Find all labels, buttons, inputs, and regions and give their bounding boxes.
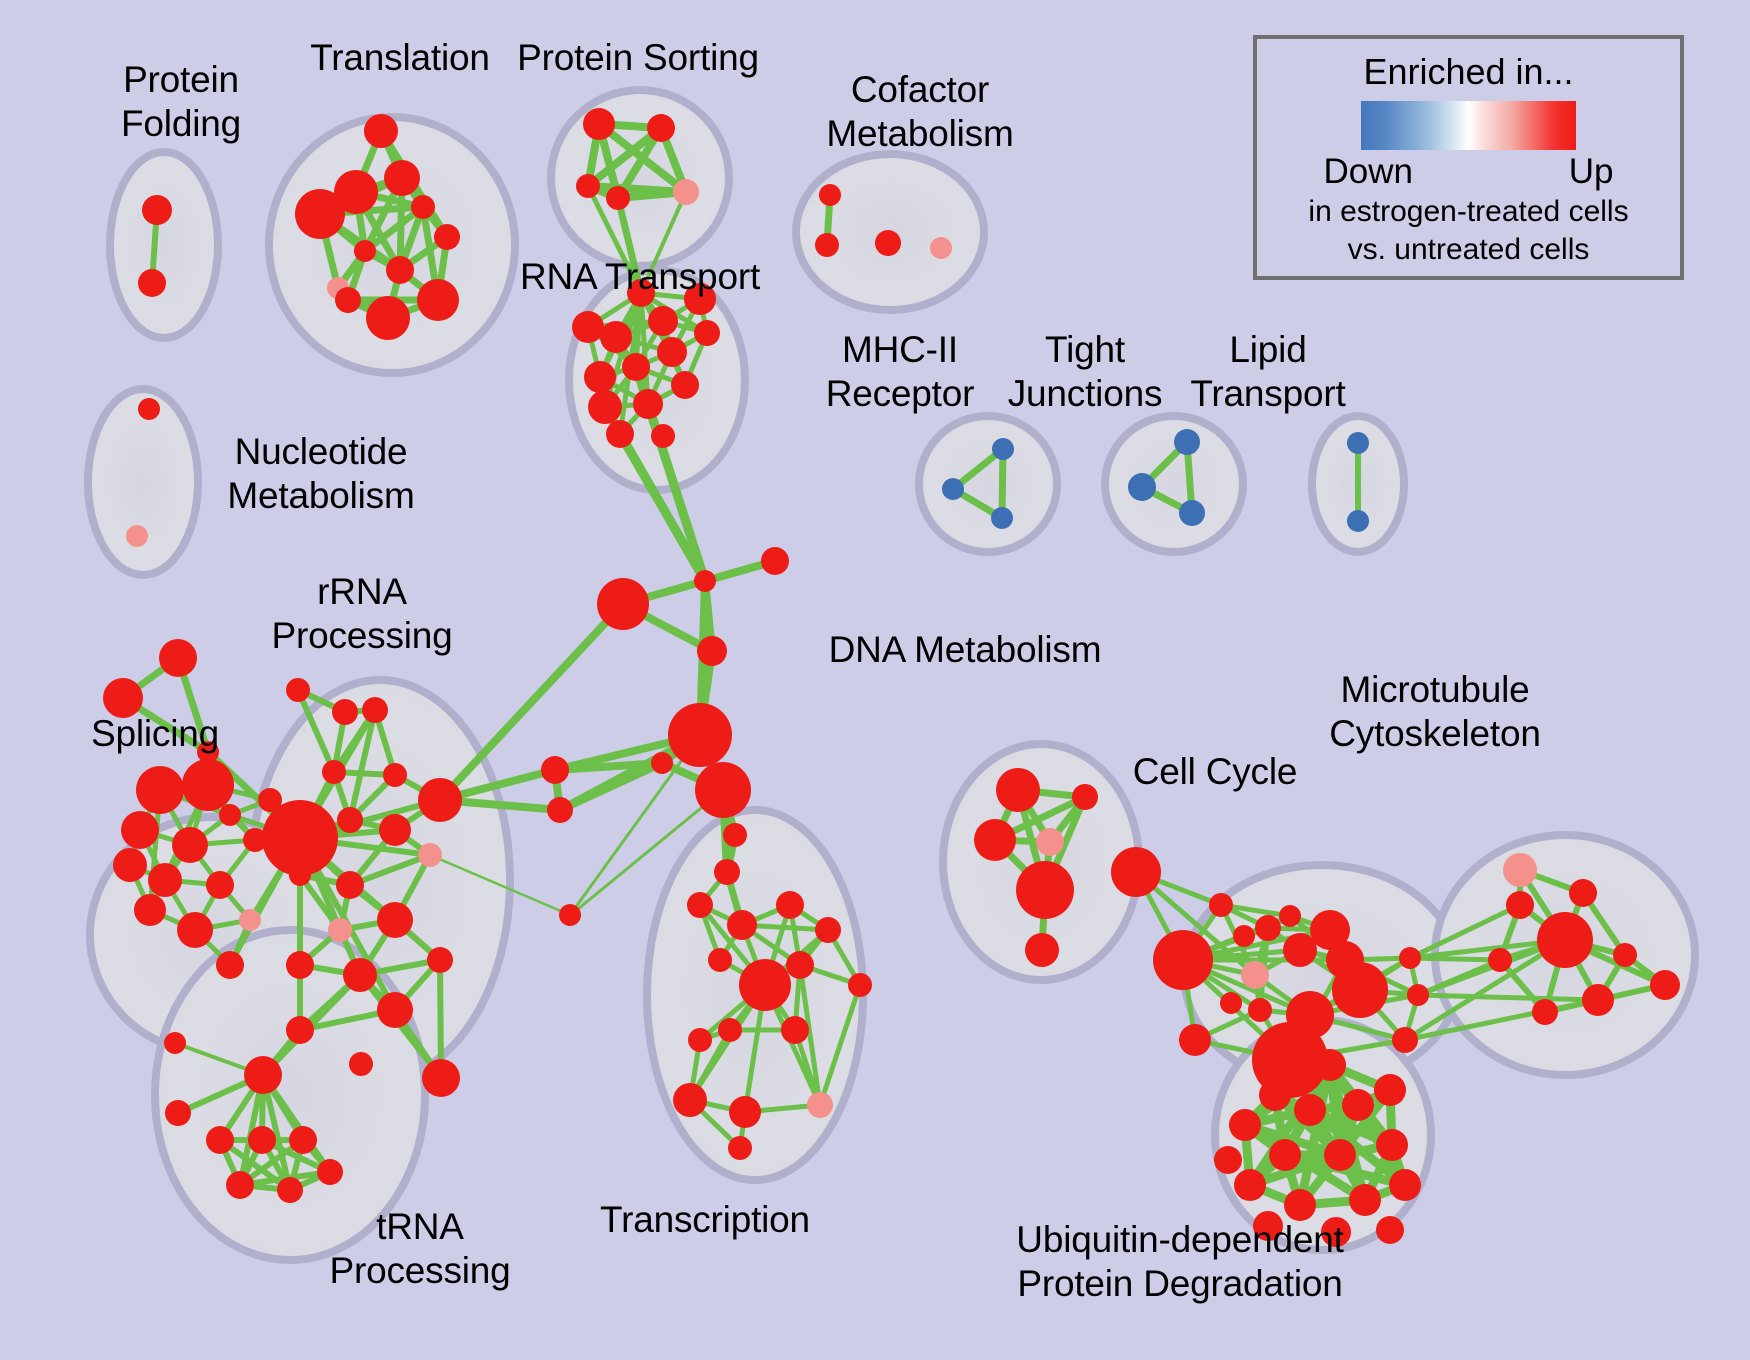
cluster-label-protein-folding: Protein Folding xyxy=(86,58,276,146)
cluster-label-rrna-processing: rRNA Processing xyxy=(252,570,472,658)
legend-title: Enriched in... xyxy=(1363,51,1573,93)
cluster-label-mhc-ii-receptor: MHC-II Receptor xyxy=(800,328,1000,416)
cluster-label-lipid-transport: Lipid Transport xyxy=(1168,328,1368,416)
legend-low-label: Down xyxy=(1324,152,1413,192)
network-diagram-canvas: Protein Folding Translation Protein Sort… xyxy=(0,0,1750,1360)
bubble-protein-sorting xyxy=(551,90,729,266)
cluster-label-microtubule: Microtubule Cytoskeleton xyxy=(1305,668,1565,756)
cluster-label-dna-metabolism: DNA Metabolism xyxy=(820,628,1110,672)
cluster-label-transcription: Transcription xyxy=(570,1198,840,1242)
bubble-protein-folding xyxy=(110,152,218,338)
cluster-label-cell-cycle: Cell Cycle xyxy=(1100,750,1330,794)
bubble-tight-junctions xyxy=(1105,416,1243,552)
cluster-label-cofactor-metabolism: Cofactor Metabolism xyxy=(800,68,1040,156)
cluster-label-tight-junctions: Tight Junctions xyxy=(985,328,1185,416)
cluster-label-trna-processing: tRNA Processing xyxy=(310,1205,530,1293)
cluster-label-ubiquitin: Ubiquitin-dependent Protein Degradation xyxy=(985,1218,1375,1306)
cluster-label-protein-sorting: Protein Sorting xyxy=(498,36,778,80)
legend-subtitle-line2: vs. untreated cells xyxy=(1348,232,1590,268)
legend-subtitle-line1: in estrogen-treated cells xyxy=(1308,194,1628,230)
legend-color-gradient-bar xyxy=(1361,101,1576,150)
cluster-label-rna-transport: RNA Transport xyxy=(500,255,780,299)
cluster-label-nucleotide-metabolism: Nucleotide Metabolism xyxy=(196,430,446,518)
legend-high-label: Up xyxy=(1569,152,1614,192)
cluster-label-translation: Translation xyxy=(280,36,520,80)
bubble-mhc xyxy=(919,416,1057,552)
legend-panel: Enriched in... Down Up in estrogen-treat… xyxy=(1253,35,1684,280)
cluster-label-splicing: Splicing xyxy=(60,712,250,756)
